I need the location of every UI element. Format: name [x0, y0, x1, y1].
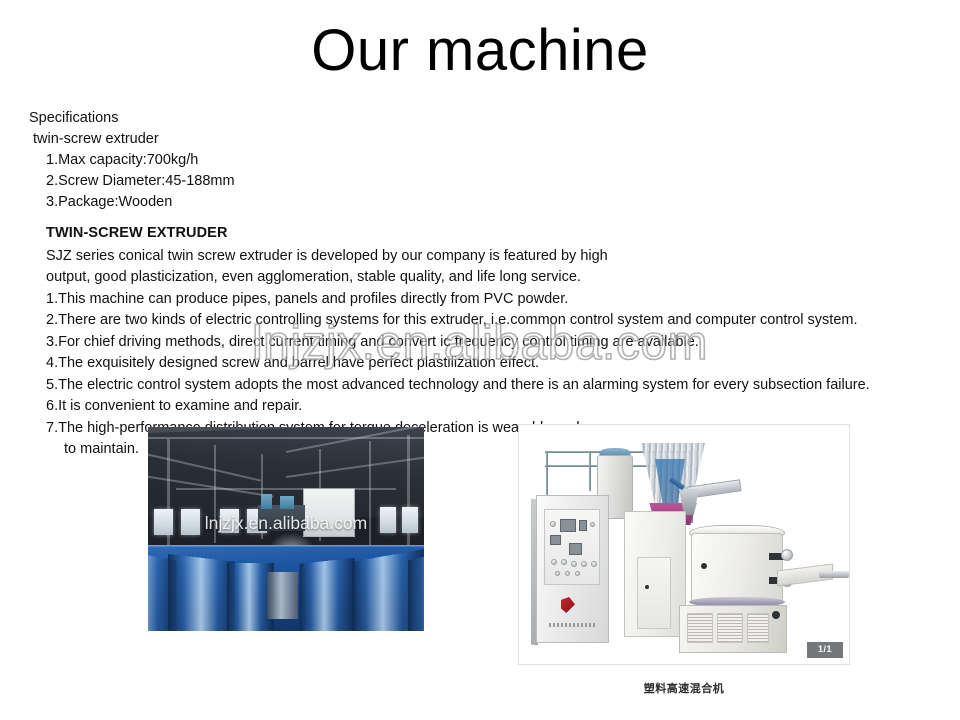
door-handle — [645, 585, 649, 589]
description-point-4: 4.The exquisitely designed screw and bar… — [46, 353, 960, 375]
specifications-heading: Specifications — [29, 108, 235, 129]
blue-pipe — [167, 554, 234, 631]
blue-pipe-floor — [148, 545, 424, 631]
photo-page-badge: 1/1 — [807, 642, 843, 658]
machine-motor — [261, 494, 272, 508]
roof-truss — [148, 437, 424, 439]
drum-valve[interactable] — [781, 549, 793, 561]
frame-post — [589, 451, 591, 491]
panel-knob[interactable] — [591, 561, 597, 567]
description-point-3: 3.For chief driving methods, direct curr… — [46, 332, 960, 354]
window — [154, 509, 173, 536]
specification-item-2: 2.Screw Diameter:45-188mm — [29, 171, 235, 192]
base-vent — [747, 613, 769, 643]
base-vent — [687, 613, 713, 643]
panel-knob[interactable] — [571, 561, 577, 567]
description-intro-line-1: SJZ series conical twin screw extruder i… — [46, 246, 960, 268]
blue-pipe — [300, 558, 355, 631]
panel-knob[interactable] — [550, 521, 556, 527]
window — [181, 509, 200, 536]
panel-knob[interactable] — [575, 571, 580, 576]
window — [380, 507, 397, 534]
specifications-subheading: twin-screw extruder — [29, 129, 235, 150]
page-title: Our machine — [0, 22, 960, 80]
description-intro-line-2: output, good plasticization, even agglom… — [46, 267, 960, 289]
panel-meter — [560, 519, 576, 532]
description-point-1: 1.This machine can produce pipes, panels… — [46, 289, 960, 311]
description-point-5: 5.The electric control system adopts the… — [46, 375, 960, 397]
body-access-door — [637, 557, 671, 629]
panel-meter — [579, 520, 587, 531]
column — [369, 441, 372, 545]
drum-port — [701, 563, 707, 569]
panel-knob[interactable] — [561, 559, 567, 565]
machine-motor — [280, 496, 294, 508]
specification-item-3: 3.Package:Wooden — [29, 192, 235, 213]
panel-knob[interactable] — [551, 559, 557, 565]
specification-item-1: 1.Max capacity:700kg/h — [29, 150, 235, 171]
panel-meter — [569, 543, 582, 555]
photo-plastic-mixer: 1/1 — [518, 424, 850, 665]
description-point-2: 2.There are two kinds of electric contro… — [46, 310, 960, 332]
machine-cabinet — [303, 488, 355, 537]
mixer-drum — [691, 533, 783, 605]
discharge-shaft — [819, 571, 849, 578]
base-indicator — [772, 611, 780, 619]
roof-truss — [176, 488, 397, 490]
description-title: TWIN-SCREW EXTRUDER — [46, 223, 960, 245]
panel-knob[interactable] — [565, 571, 570, 576]
description-point-6: 6.It is convenient to examine and repair… — [46, 396, 960, 418]
panel-knob[interactable] — [590, 522, 595, 527]
panel-meter — [550, 535, 561, 545]
photo-factory-pipe-line: lnjzjx.en.alibaba.com — [148, 427, 424, 631]
panel-knob[interactable] — [555, 571, 560, 576]
panel-knob[interactable] — [581, 561, 587, 567]
column — [214, 445, 216, 543]
cabinet-nameplate — [549, 623, 596, 627]
grey-pipe — [267, 572, 298, 619]
base-vent — [717, 613, 743, 643]
photo-right-caption: 塑料高速混合机 — [518, 680, 850, 696]
specifications-block: Specifications twin-screw extruder 1.Max… — [29, 108, 235, 213]
window — [402, 507, 419, 534]
window — [220, 509, 239, 533]
